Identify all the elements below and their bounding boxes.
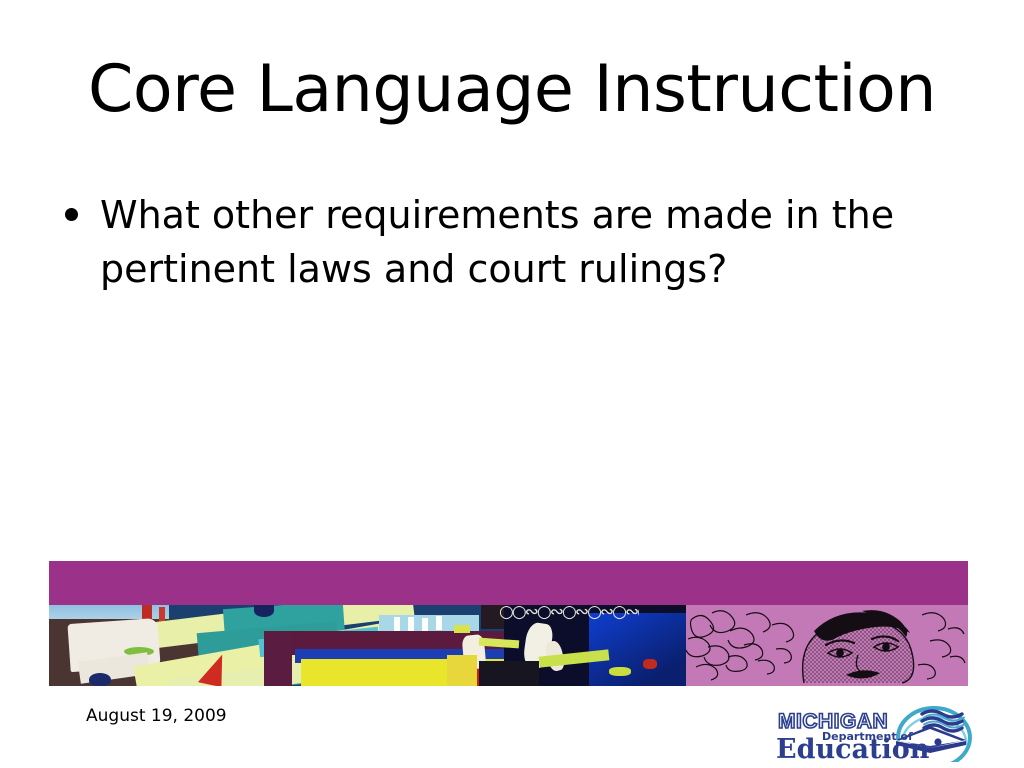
page-title: Core Language Instruction bbox=[60, 52, 964, 128]
logo-line3: Education bbox=[776, 734, 930, 762]
bullet-text: What other requirements are made in the … bbox=[100, 188, 916, 296]
slide-date: August 19, 2009 bbox=[86, 706, 227, 726]
list-item: What other requirements are made in the … bbox=[62, 188, 942, 296]
michigan-department-of-education-logo: MICHIGAN Department of Education bbox=[770, 696, 1010, 762]
band-lower: ○○∾○∾○∾○∾○∾○∾ bbox=[49, 605, 968, 686]
slide-canvas: Core Language Instruction What other req… bbox=[0, 0, 1024, 768]
mde-logo-icon: MICHIGAN Department of Education bbox=[770, 696, 1010, 762]
bullet-dot-icon bbox=[65, 208, 78, 221]
abstract-painting-image: ○○∾○∾○∾○∾○∾○∾ bbox=[49, 605, 686, 686]
face-drawing-icon bbox=[686, 605, 968, 686]
face-drawing-image bbox=[686, 605, 968, 686]
decorative-image-band: ○○∾○∾○∾○∾○∾○∾ bbox=[49, 561, 968, 686]
band-top-strip bbox=[49, 561, 968, 605]
body-content: What other requirements are made in the … bbox=[62, 188, 942, 296]
